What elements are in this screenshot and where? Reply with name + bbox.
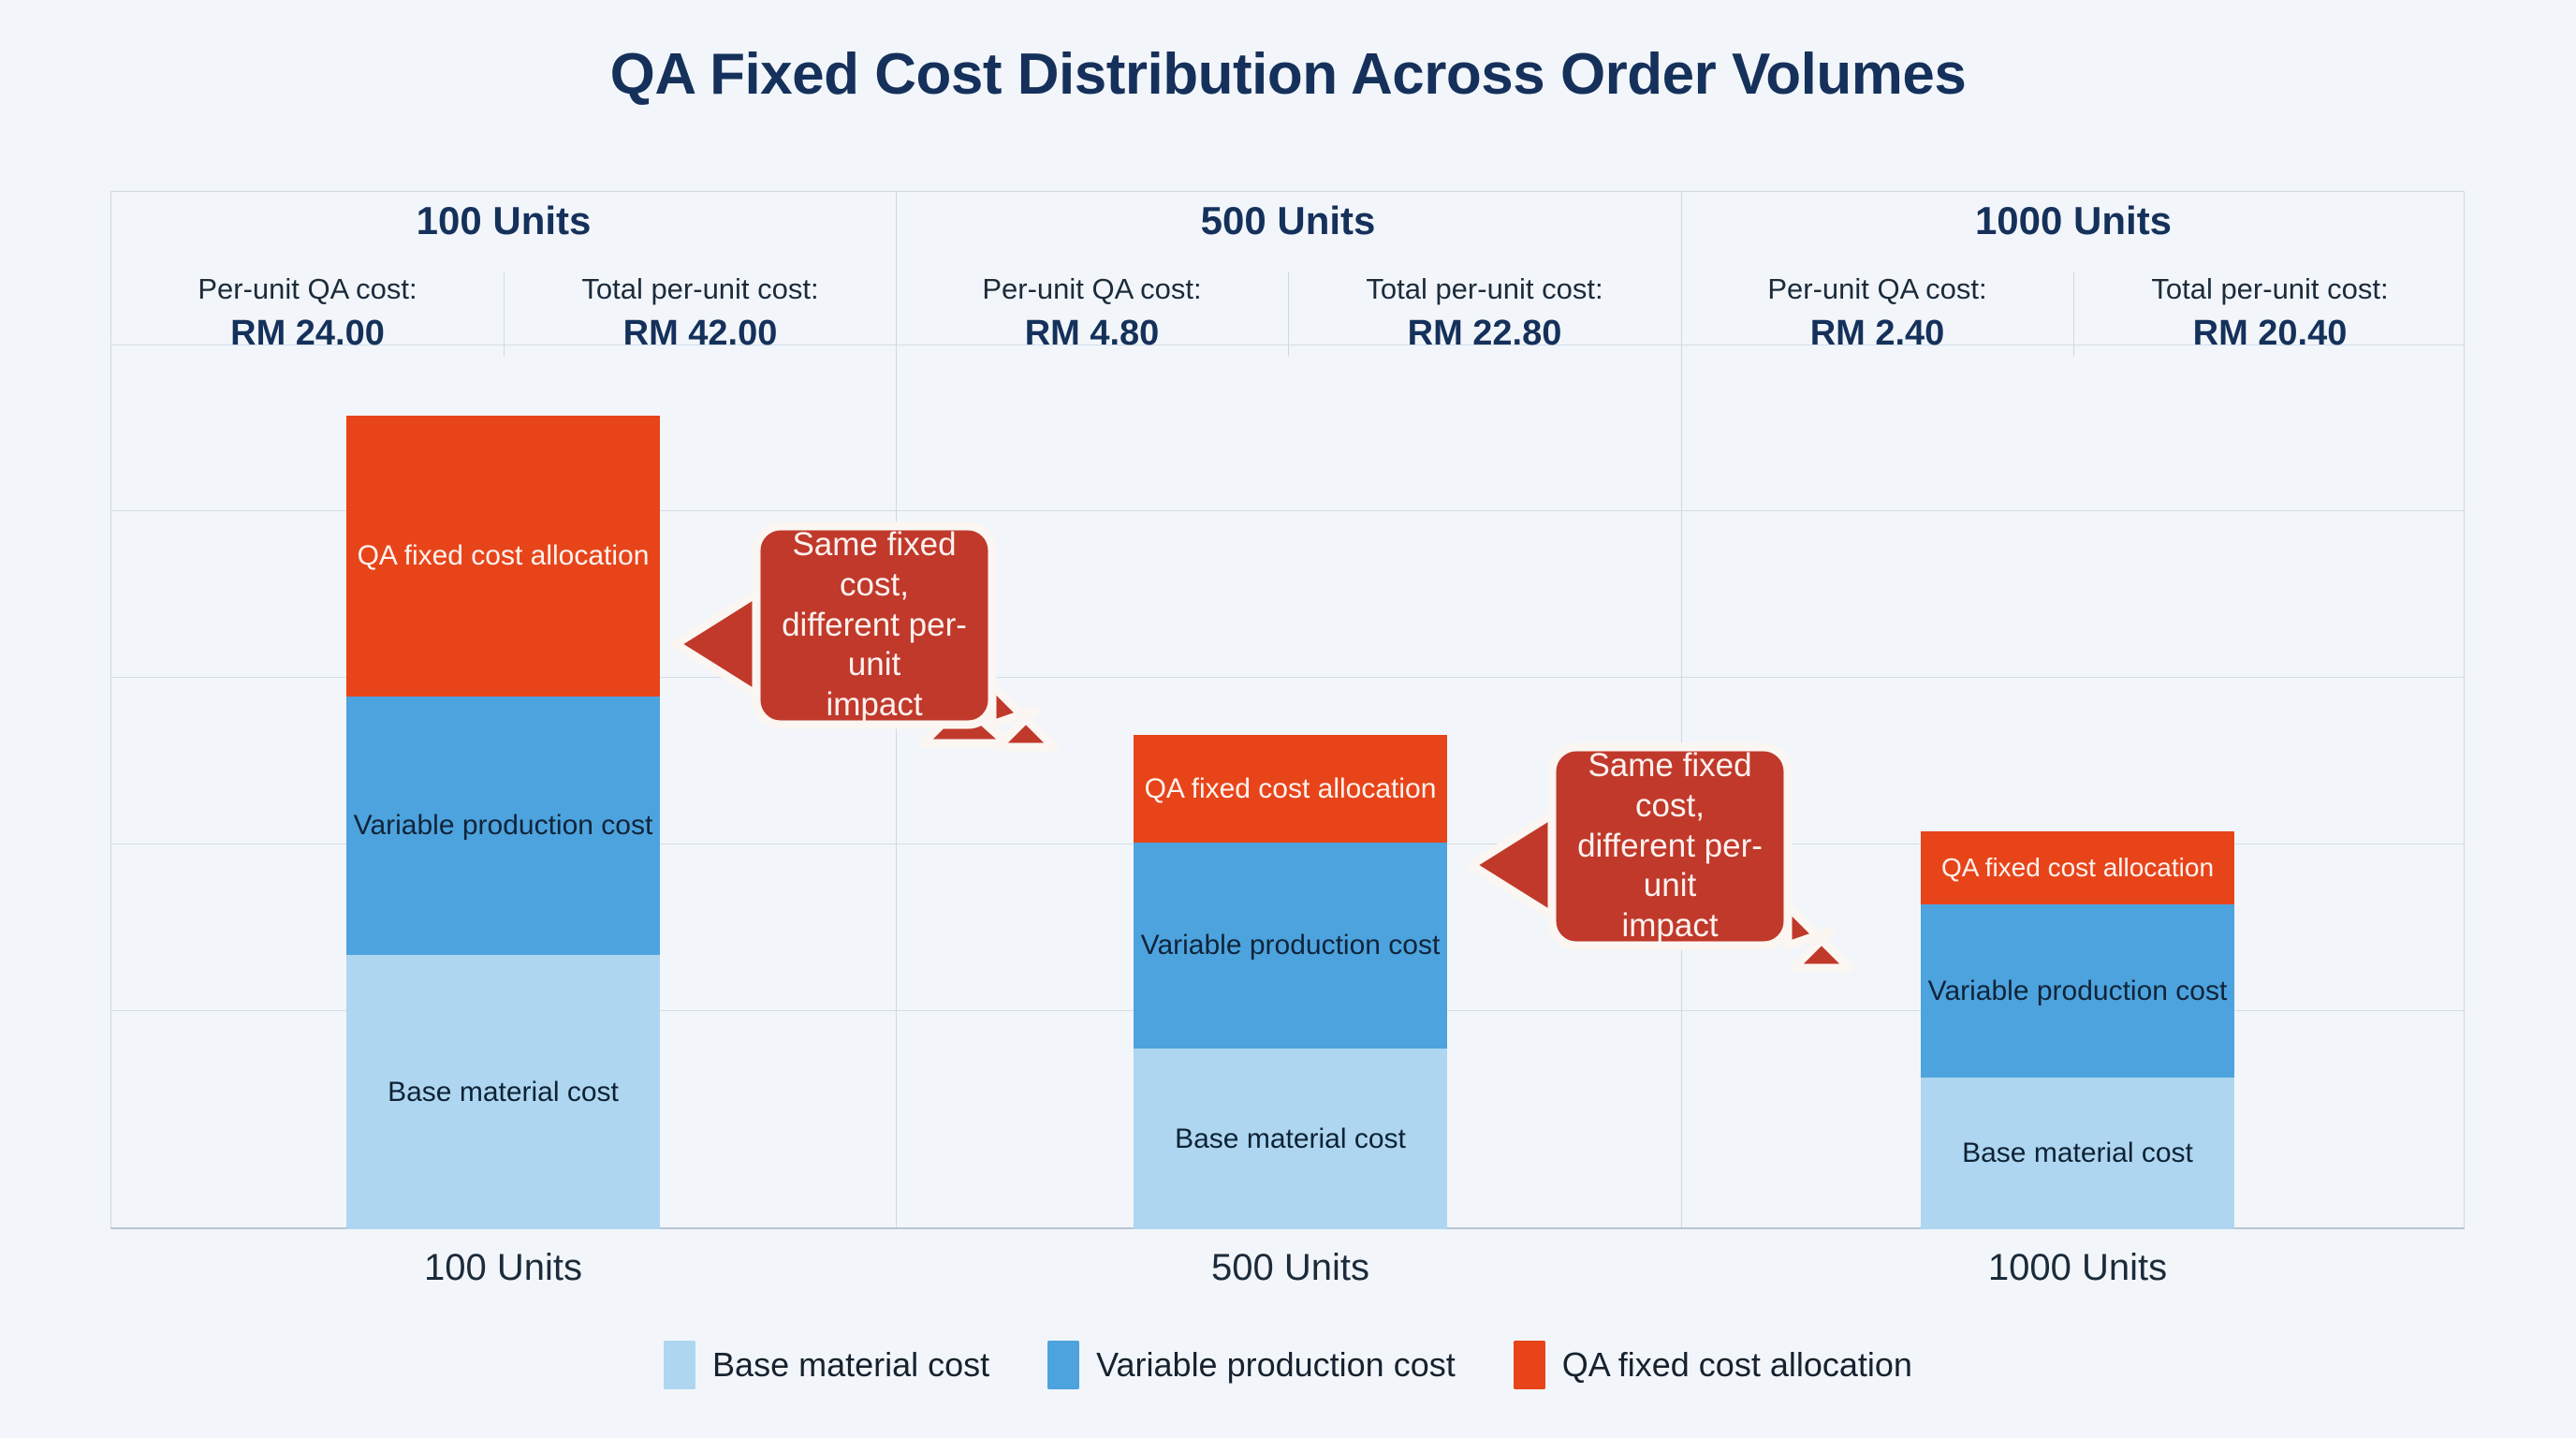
stat-label: Total per-unit cost: bbox=[510, 271, 890, 308]
legend-item-variable-production-cost[interactable]: Variable production cost bbox=[1047, 1341, 1456, 1389]
panel-stats: Per-unit QA cost: RM 2.40 Total per-unit… bbox=[1681, 271, 2466, 357]
panel-title: 1000 Units bbox=[1681, 198, 2466, 243]
stat-label: Per-unit QA cost: bbox=[1687, 271, 2068, 308]
bar-segment-qa-fixed-cost[interactable]: QA fixed cost allocation bbox=[1134, 735, 1447, 843]
xtick-label-1000-units: 1000 Units bbox=[1865, 1247, 2291, 1289]
stat-label: Per-unit QA cost: bbox=[117, 271, 498, 308]
legend-label: QA fixed cost allocation bbox=[1562, 1345, 1912, 1385]
callout-text: Same fixed cost, different per-unit impa… bbox=[762, 532, 987, 719]
callout-annotation-1[interactable]: Same fixed cost, different per-unit impa… bbox=[642, 479, 1185, 751]
stat-value: RM 4.80 bbox=[901, 311, 1282, 357]
stat-per-unit-qa-cost: Per-unit QA cost: RM 4.80 bbox=[896, 271, 1288, 357]
bar-segment-variable-production-cost[interactable]: Variable production cost bbox=[1134, 843, 1447, 1049]
legend-item-base-material-cost[interactable]: Base material cost bbox=[664, 1341, 989, 1389]
stat-label: Per-unit QA cost: bbox=[901, 271, 1282, 308]
legend-swatch-icon bbox=[1047, 1341, 1079, 1389]
stat-total-per-unit-cost: Total per-unit cost: RM 22.80 bbox=[1288, 271, 1680, 357]
stat-label: Total per-unit cost: bbox=[2080, 271, 2460, 308]
panel-title: 100 Units bbox=[111, 198, 896, 243]
callout-annotation-2[interactable]: Same fixed cost, different per-unit impa… bbox=[1438, 700, 1981, 972]
bar-segment-base-material-cost[interactable]: Base material cost bbox=[1921, 1078, 2234, 1229]
panel-stats: Per-unit QA cost: RM 24.00 Total per-uni… bbox=[111, 271, 896, 357]
xtick-label-100-units: 100 Units bbox=[290, 1247, 716, 1289]
bar-segment-base-material-cost[interactable]: Base material cost bbox=[346, 955, 660, 1229]
stat-value: RM 42.00 bbox=[510, 311, 890, 357]
stat-value: RM 20.40 bbox=[2080, 311, 2460, 357]
xtick-label-500-units: 500 Units bbox=[1077, 1247, 1503, 1289]
stat-value: RM 24.00 bbox=[117, 311, 498, 357]
panel-title: 500 Units bbox=[896, 198, 1680, 243]
legend-item-qa-fixed-cost-allocation[interactable]: QA fixed cost allocation bbox=[1514, 1341, 1912, 1389]
bar-segment-base-material-cost[interactable]: Base material cost bbox=[1134, 1049, 1447, 1229]
stat-value: RM 22.80 bbox=[1295, 311, 1675, 357]
stat-label: Total per-unit cost: bbox=[1295, 271, 1675, 308]
stat-total-per-unit-cost: Total per-unit cost: RM 20.40 bbox=[2073, 271, 2466, 357]
stat-value: RM 2.40 bbox=[1687, 311, 2068, 357]
chart-legend: Base material cost Variable production c… bbox=[0, 1341, 2576, 1389]
legend-label: Base material cost bbox=[712, 1345, 989, 1385]
panel-stats: Per-unit QA cost: RM 4.80 Total per-unit… bbox=[896, 271, 1680, 357]
panel-1000-units: 1000 Units Per-unit QA cost: RM 2.40 Tot… bbox=[1681, 191, 2466, 416]
panel-500-units: 500 Units Per-unit QA cost: RM 4.80 Tota… bbox=[896, 191, 1680, 416]
panel-100-units: 100 Units Per-unit QA cost: RM 24.00 Tot… bbox=[111, 191, 896, 416]
bar-stack-500-units[interactable]: QA fixed cost allocation Variable produc… bbox=[1134, 735, 1447, 1229]
legend-swatch-icon bbox=[1514, 1341, 1545, 1389]
stat-per-unit-qa-cost: Per-unit QA cost: RM 2.40 bbox=[1681, 271, 2073, 357]
bar-segment-variable-production-cost[interactable]: Variable production cost bbox=[346, 697, 660, 955]
legend-swatch-icon bbox=[664, 1341, 695, 1389]
bar-stack-100-units[interactable]: QA fixed cost allocation Variable produc… bbox=[346, 416, 660, 1229]
callout-text: Same fixed cost, different per-unit impa… bbox=[1558, 753, 1782, 940]
page-title: QA Fixed Cost Distribution Across Order … bbox=[0, 41, 2576, 108]
stat-total-per-unit-cost: Total per-unit cost: RM 42.00 bbox=[504, 271, 896, 357]
chart-canvas: QA Fixed Cost Distribution Across Order … bbox=[0, 0, 2576, 1438]
legend-label: Variable production cost bbox=[1096, 1345, 1456, 1385]
stat-per-unit-qa-cost: Per-unit QA cost: RM 24.00 bbox=[111, 271, 504, 357]
bar-segment-qa-fixed-cost[interactable]: QA fixed cost allocation bbox=[346, 416, 660, 697]
